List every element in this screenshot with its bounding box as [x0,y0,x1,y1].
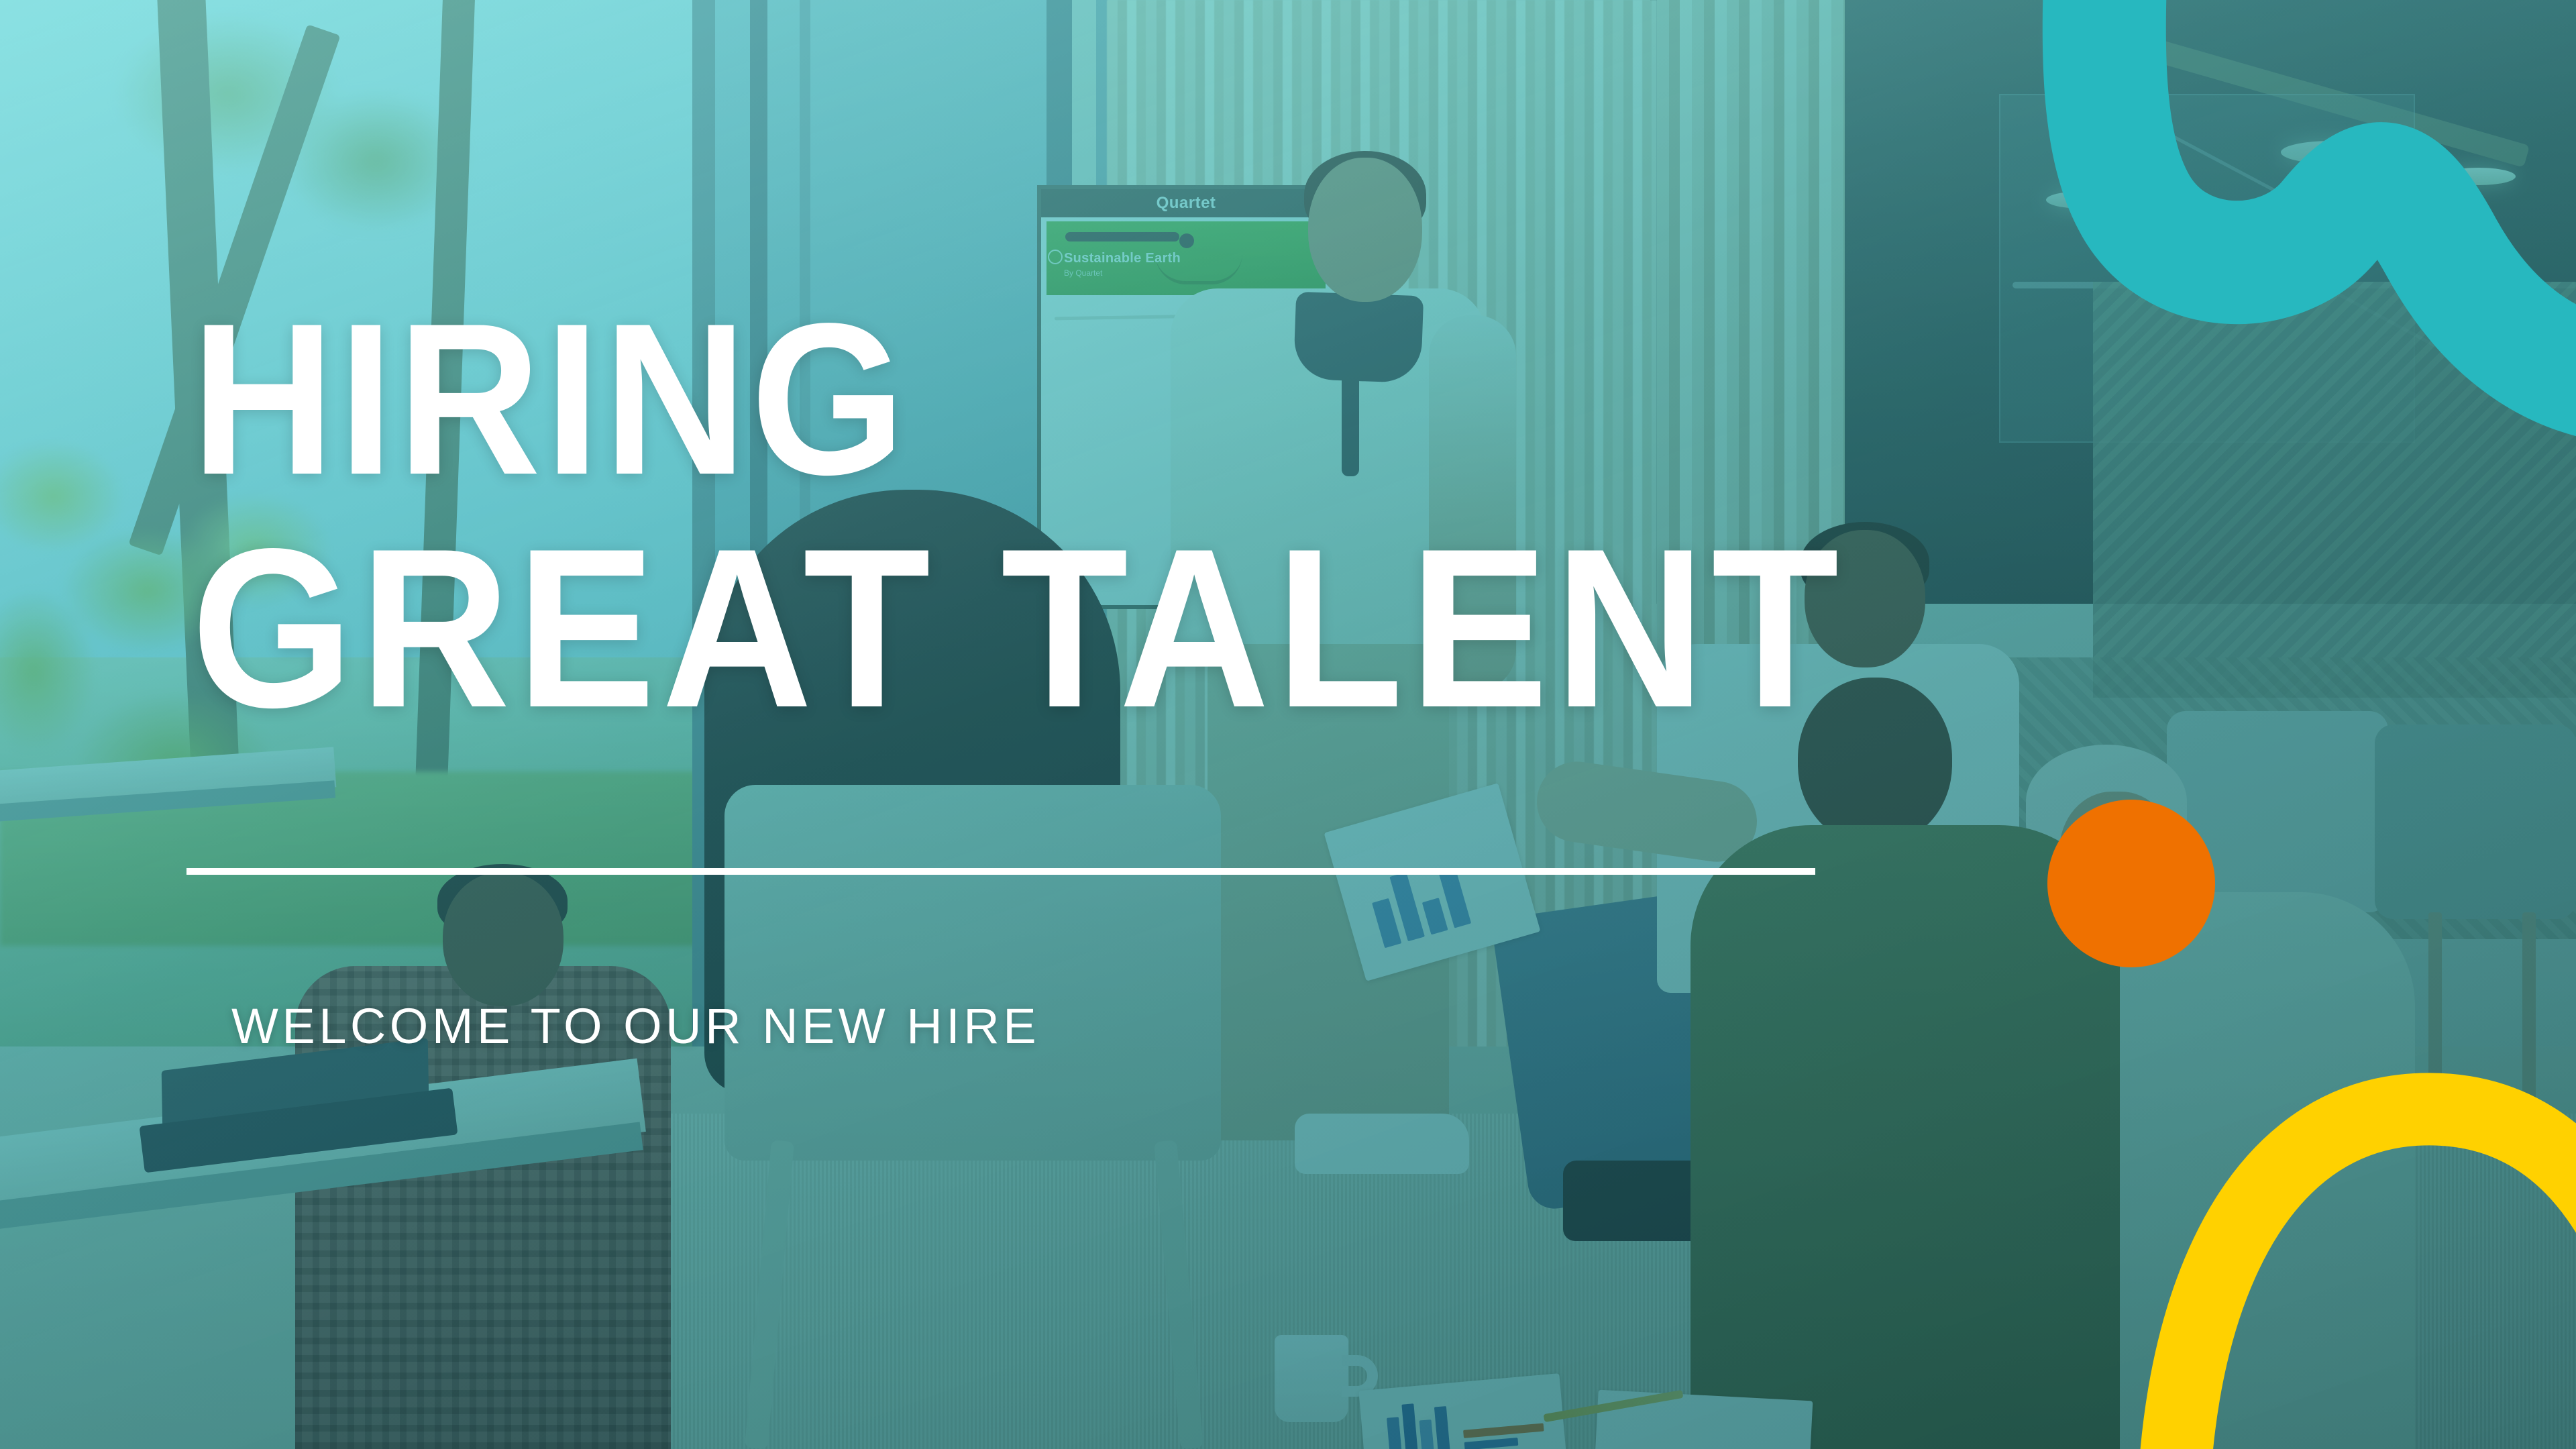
headline-line-2: GREAT TALENT [191,540,1845,717]
headline-line-1: HIRING [191,315,909,484]
banner-content: HIRING GREAT TALENT WELCOME TO OUR NEW H… [0,0,2576,1449]
subtitle-text: WELCOME TO OUR NEW HIRE [231,998,1040,1055]
divider-rule [186,868,1815,875]
hiring-banner: Quartet Sustainable Earth By Quartet [0,0,2576,1449]
